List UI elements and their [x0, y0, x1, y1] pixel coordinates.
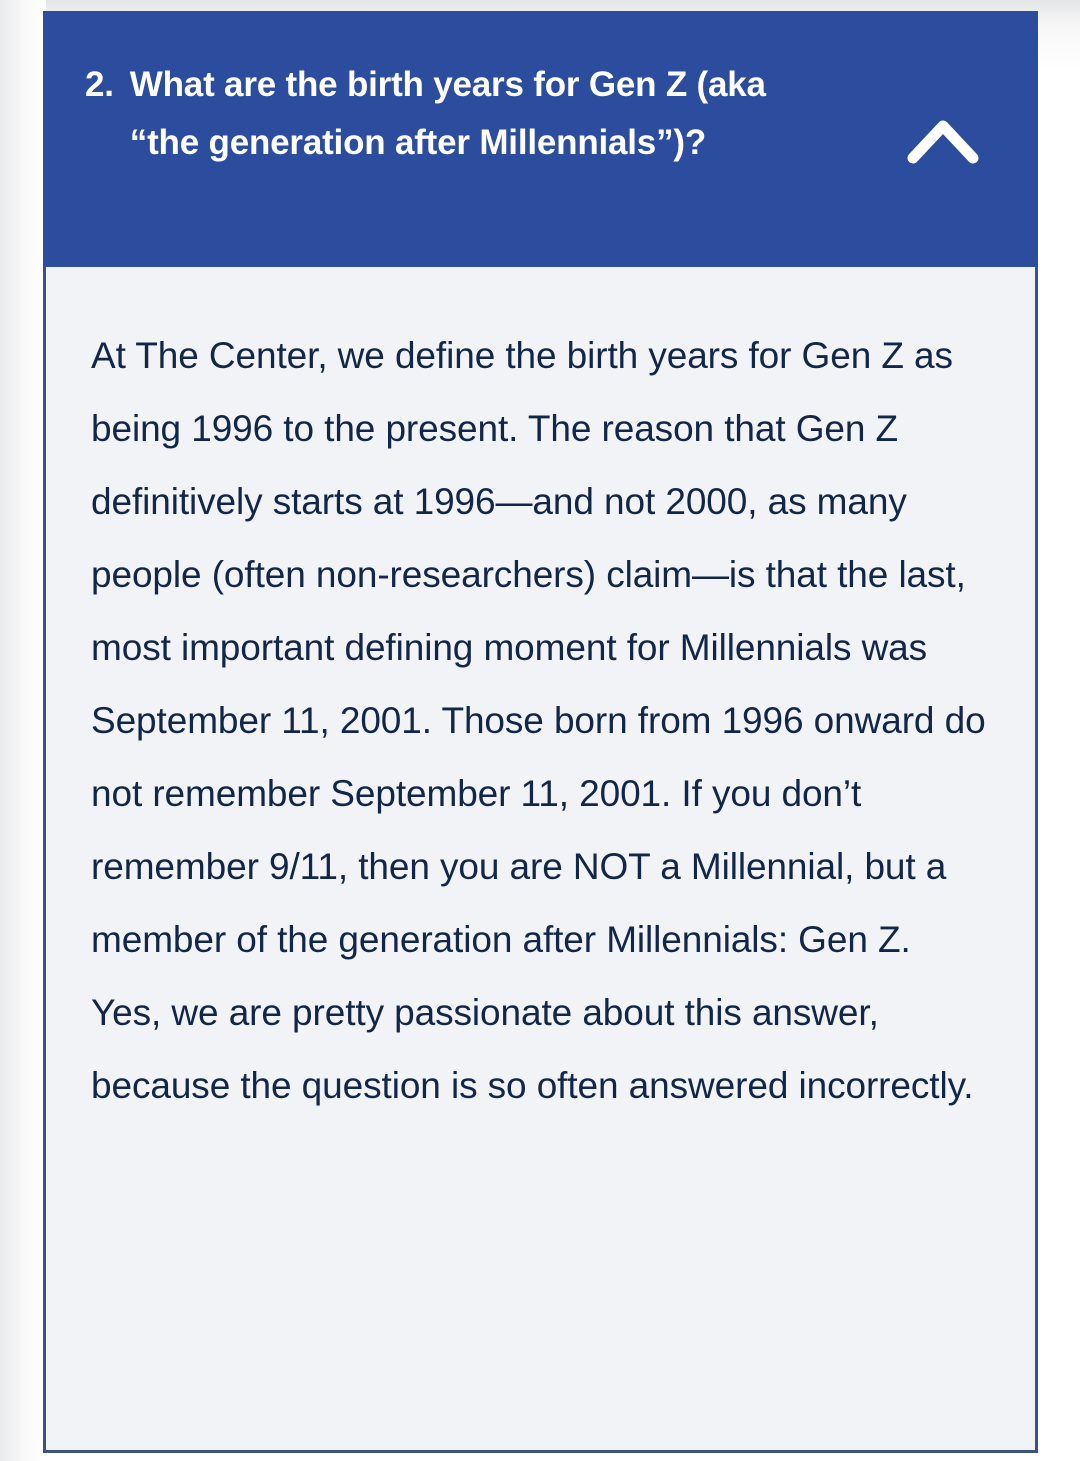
answer-text: At The Center, we define the birth years…	[91, 319, 987, 1122]
question-row: 2. What are the birth years for Gen Z (a…	[85, 56, 795, 172]
question-number: 2.	[85, 56, 114, 114]
accordion-header-question-2[interactable]: 2. What are the birth years for Gen Z (a…	[43, 11, 1038, 267]
accordion-answer-panel: At The Center, we define the birth years…	[43, 267, 1038, 1453]
faq-accordion-item: 2. What are the birth years for Gen Z (a…	[43, 11, 1038, 1453]
question-title: What are the birth years for Gen Z (aka …	[130, 56, 795, 172]
chevron-up-icon[interactable]	[906, 115, 980, 167]
page-root: 2. What are the birth years for Gen Z (a…	[0, 0, 1080, 1461]
